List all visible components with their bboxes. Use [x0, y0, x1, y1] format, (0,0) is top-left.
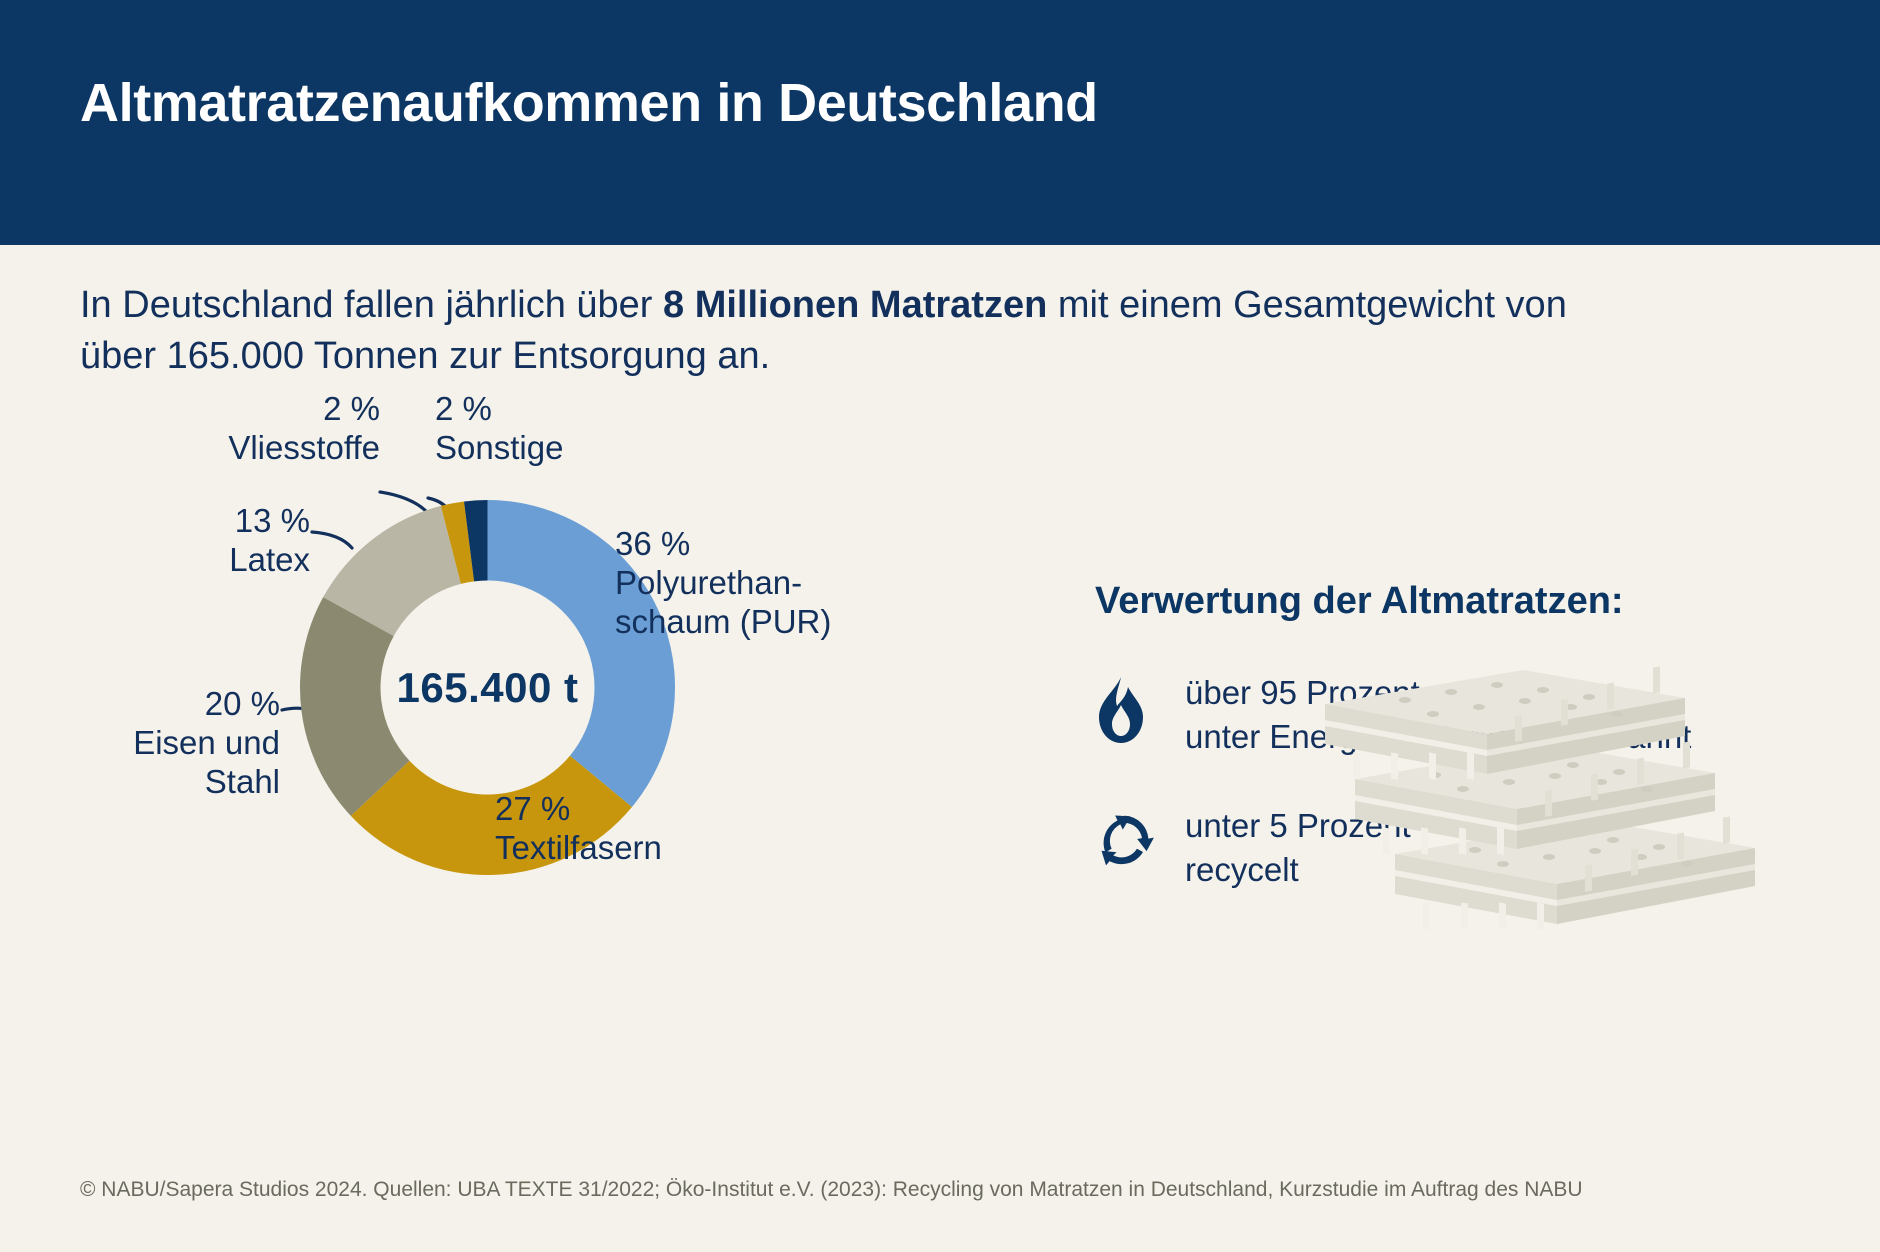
flame-icon	[1095, 671, 1185, 750]
donut-chart-area: 165.400 t 2 % Vliesstoffe 2 % Sonstige 1…	[40, 380, 1040, 1100]
slice-label-textilfasern: 27 % Textilfasern	[495, 790, 825, 868]
slice-label-pur: 36 % Polyurethan- schaum (PUR)	[615, 525, 915, 642]
mattress-stack-illustration	[1255, 660, 1835, 960]
slice-label-vliesstoffe: 2 % Vliesstoffe	[160, 390, 380, 468]
intro-highlight: 8 Millionen Matratzen	[663, 284, 1047, 326]
intro-text-part1: In Deutschland fallen jährlich über	[80, 284, 663, 326]
header-bar: Altmatratzenaufkommen in Deutschland	[0, 0, 1880, 245]
slice-label-latex: 13 % Latex	[100, 502, 310, 580]
slice-label-sonstige: 2 % Sonstige	[435, 390, 655, 468]
page-title: Altmatratzenaufkommen in Deutschland	[80, 72, 1098, 134]
recovery-panel-title: Verwertung der Altmatratzen:	[1095, 580, 1855, 623]
recycle-icon	[1095, 804, 1185, 879]
intro-paragraph: In Deutschland fallen jährlich über 8 Mi…	[80, 280, 1580, 383]
slice-label-eisen-stahl: 20 % Eisen und Stahl	[40, 685, 280, 802]
source-footnote: © NABU/Sapera Studios 2024. Quellen: UBA…	[80, 1178, 1583, 1202]
